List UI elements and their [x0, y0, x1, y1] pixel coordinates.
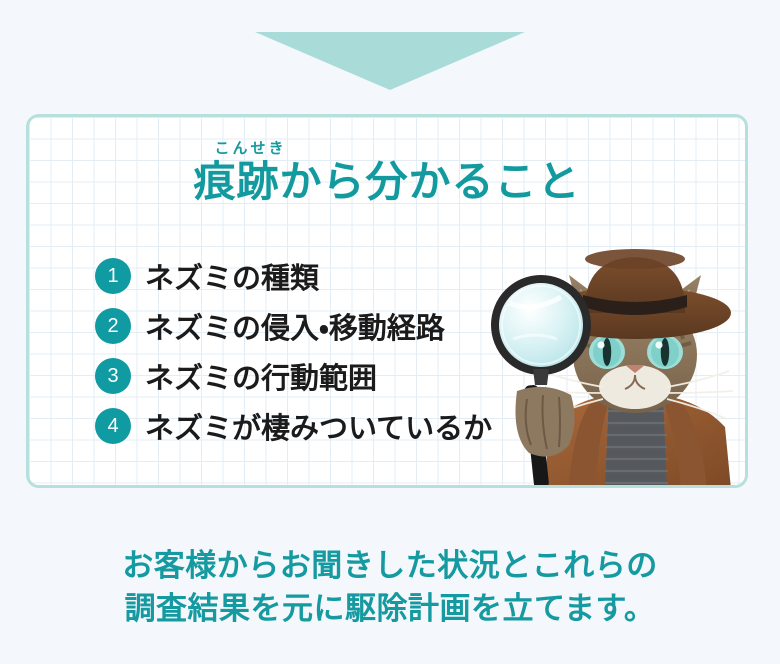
list-item: 4 ネズミが棲みついているか: [95, 407, 492, 445]
caption-line-2: 調査結果を元に駆除計画を立てます。: [0, 588, 780, 631]
down-arrow-icon: [255, 32, 525, 90]
info-card: こんせき 痕跡から分かること 1 ネズミの種類 2 ネズミの侵入・移動経路 3 …: [26, 114, 748, 488]
list-item: 2 ネズミの侵入・移動経路: [95, 307, 492, 345]
cat-paw: [516, 387, 575, 457]
card-title-block: こんせき 痕跡から分かること: [29, 143, 745, 203]
arrow-section: [0, 0, 780, 100]
detective-cat-illustration: [483, 239, 748, 488]
list-item-label: ネズミの侵入・移動経路: [145, 305, 445, 347]
findings-list: 1 ネズミの種類 2 ネズミの侵入・移動経路 3 ネズミの行動範囲 4 ネズミが…: [95, 257, 492, 457]
list-item-number-badge: 1: [95, 258, 131, 294]
list-item: 1 ネズミの種類: [95, 257, 492, 295]
card-title: 痕跡から分かること: [193, 143, 580, 203]
title-furigana: こんせき: [214, 141, 286, 156]
list-item: 3 ネズミの行動範囲: [95, 357, 492, 395]
title-ruby-group: こんせき 痕跡から分かること: [193, 143, 580, 203]
caption-line-1: お客様からお聞きした状況とこれらの: [0, 545, 780, 588]
caption-text: お客様からお聞きした状況とこれらの 調査結果を元に駆除計画を立てます。: [0, 545, 780, 631]
list-item-number-badge: 4: [95, 408, 131, 444]
list-item-number-badge: 2: [95, 308, 131, 344]
list-item-label: ネズミの行動範囲: [145, 355, 377, 397]
list-item-label: ネズミの種類: [145, 255, 319, 297]
list-item-label: ネズミが棲みついているか: [145, 405, 492, 447]
list-item-number-badge: 3: [95, 358, 131, 394]
